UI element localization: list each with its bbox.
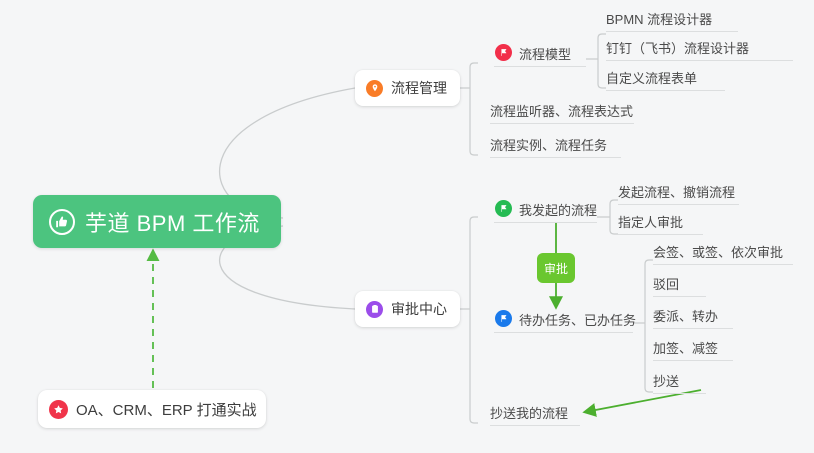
leaf-bpmn-designer[interactable]: BPMN 流程设计器 <box>606 12 738 32</box>
link-process-bracket <box>460 63 478 155</box>
leaf-label: 驳回 <box>653 277 679 292</box>
root-label: 芋道 BPM 工作流 <box>85 206 260 238</box>
leaf-label: 流程实例、流程任务 <box>490 138 607 153</box>
leaf-label: 流程监听器、流程表达式 <box>490 104 633 119</box>
flag-icon <box>495 44 512 61</box>
leaf-label: 发起流程、撤销流程 <box>618 185 735 200</box>
leaf-process-model[interactable]: 流程模型 <box>494 44 586 67</box>
root-node[interactable]: 芋道 BPM 工作流 <box>33 195 281 248</box>
leaf-process-instance-task[interactable]: 流程实例、流程任务 <box>490 138 621 158</box>
leaf-start-cancel-process[interactable]: 发起流程、撤销流程 <box>618 185 739 205</box>
bottom-note-label: OA、CRM、ERP 打通实战 <box>76 399 257 420</box>
leaf-dingtalk-feishu-designer[interactable]: 钉钉（飞书）流程设计器 <box>606 41 793 61</box>
leaf-label: 加签、减签 <box>653 341 718 356</box>
leaf-add-remove-sign[interactable]: 加签、减签 <box>653 341 733 361</box>
leaf-label: 委派、转办 <box>653 309 718 324</box>
leaf-label: 自定义流程表单 <box>606 71 697 86</box>
thumbs-up-icon <box>49 209 75 235</box>
leaf-label: 会签、或签、依次审批 <box>653 245 783 260</box>
link-model-bracket <box>586 34 606 88</box>
leaf-label: 抄送我的流程 <box>490 406 568 421</box>
leaf-my-initiated-processes[interactable]: 我发起的流程 <box>494 200 597 223</box>
approval-flow-badge-label: 审批 <box>544 260 568 277</box>
branch-label-process-management: 流程管理 <box>391 78 447 98</box>
leaf-label: 待办任务、已办任务 <box>519 313 636 328</box>
branch-label-approval-center: 审批中心 <box>391 299 447 319</box>
leaf-todo-done-tasks[interactable]: 待办任务、已办任务 <box>494 310 633 333</box>
leaf-label: 指定人审批 <box>618 215 683 230</box>
leaf-label: 流程模型 <box>519 47 571 62</box>
leaf-label: 我发起的流程 <box>519 203 597 218</box>
approval-flow-badge: 审批 <box>537 253 575 283</box>
leaf-delegate-transfer[interactable]: 委派、转办 <box>653 309 733 329</box>
location-pin-icon <box>366 80 383 97</box>
leaf-countersign-orsign-sequential[interactable]: 会签、或签、依次审批 <box>653 245 793 265</box>
leaf-assignee-approval[interactable]: 指定人审批 <box>618 215 703 235</box>
clipboard-icon <box>366 301 383 318</box>
leaf-cc-to-me-processes[interactable]: 抄送我的流程 <box>490 406 580 426</box>
branch-node-approval-center[interactable]: 审批中心 <box>355 291 460 327</box>
leaf-label: 钉钉（飞书）流程设计器 <box>606 41 749 56</box>
bottom-note-node[interactable]: OA、CRM、ERP 打通实战 <box>38 390 266 428</box>
leaf-label: 抄送 <box>653 374 679 389</box>
leaf-cc[interactable]: 抄送 <box>653 374 706 394</box>
link-approval-bracket <box>460 217 478 423</box>
mindmap-canvas: 芋道 BPM 工作流 OA、CRM、ERP 打通实战 流程管理 流程模型 BPM… <box>0 0 814 453</box>
leaf-process-listener-expression[interactable]: 流程监听器、流程表达式 <box>490 104 634 124</box>
flag-icon <box>495 310 512 327</box>
flag-icon <box>495 200 512 217</box>
leaf-custom-process-form[interactable]: 自定义流程表单 <box>606 71 725 91</box>
branch-node-process-management[interactable]: 流程管理 <box>355 70 460 106</box>
leaf-reject[interactable]: 驳回 <box>653 277 706 297</box>
link-initiated-bracket <box>597 200 618 234</box>
leaf-label: BPMN 流程设计器 <box>606 12 712 27</box>
star-icon <box>49 400 68 419</box>
